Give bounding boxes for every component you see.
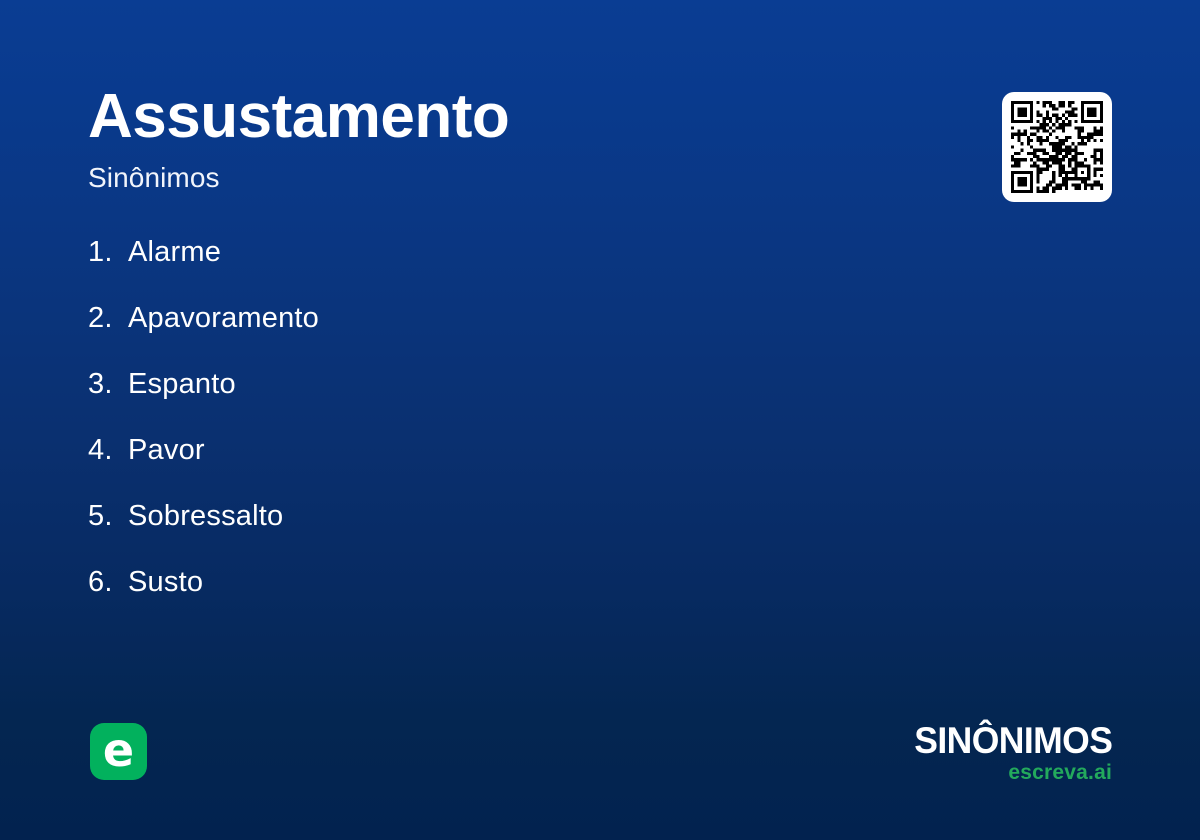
list-item-label: Sobressalto	[128, 500, 283, 533]
qr-code-card[interactable]	[1002, 92, 1112, 202]
brand-name: SINÔNIMOS	[914, 722, 1112, 759]
brand-wordmark[interactable]: SINÔNIMOS escreva.ai	[906, 722, 1112, 783]
header: Assustamento Sinônimos	[88, 86, 509, 192]
list-item: 5.Sobressalto	[88, 500, 868, 566]
list-item-index: 3.	[88, 368, 128, 401]
escreva-logo-icon[interactable]: e	[90, 723, 147, 780]
list-item: 3.Espanto	[88, 368, 868, 434]
list-item-label: Pavor	[128, 434, 205, 467]
brand-domain: escreva.ai	[906, 762, 1112, 783]
qr-code-icon	[1011, 101, 1103, 193]
list-item: 6.Susto	[88, 566, 868, 632]
list-item-label: Espanto	[128, 368, 236, 401]
list-item-index: 6.	[88, 566, 128, 599]
list-item: 2.Apavoramento	[88, 302, 868, 368]
list-item: 4.Pavor	[88, 434, 868, 500]
list-item-index: 2.	[88, 302, 128, 335]
list-item-index: 5.	[88, 500, 128, 533]
list-item-label: Susto	[128, 566, 203, 599]
list-item-label: Apavoramento	[128, 302, 319, 335]
list-item: 1.Alarme	[88, 236, 868, 302]
list-item-index: 1.	[88, 236, 128, 269]
synonym-card: Assustamento Sinônimos 1.Alarme2.Apavora…	[0, 0, 1200, 840]
list-item-index: 4.	[88, 434, 128, 467]
list-item-label: Alarme	[128, 236, 221, 269]
brand-icon-letter: e	[103, 727, 134, 773]
synonyms-list: 1.Alarme2.Apavoramento3.Espanto4.Pavor5.…	[88, 236, 868, 632]
page-subtitle: Sinônimos	[88, 164, 509, 192]
page-title: Assustamento	[88, 86, 509, 148]
